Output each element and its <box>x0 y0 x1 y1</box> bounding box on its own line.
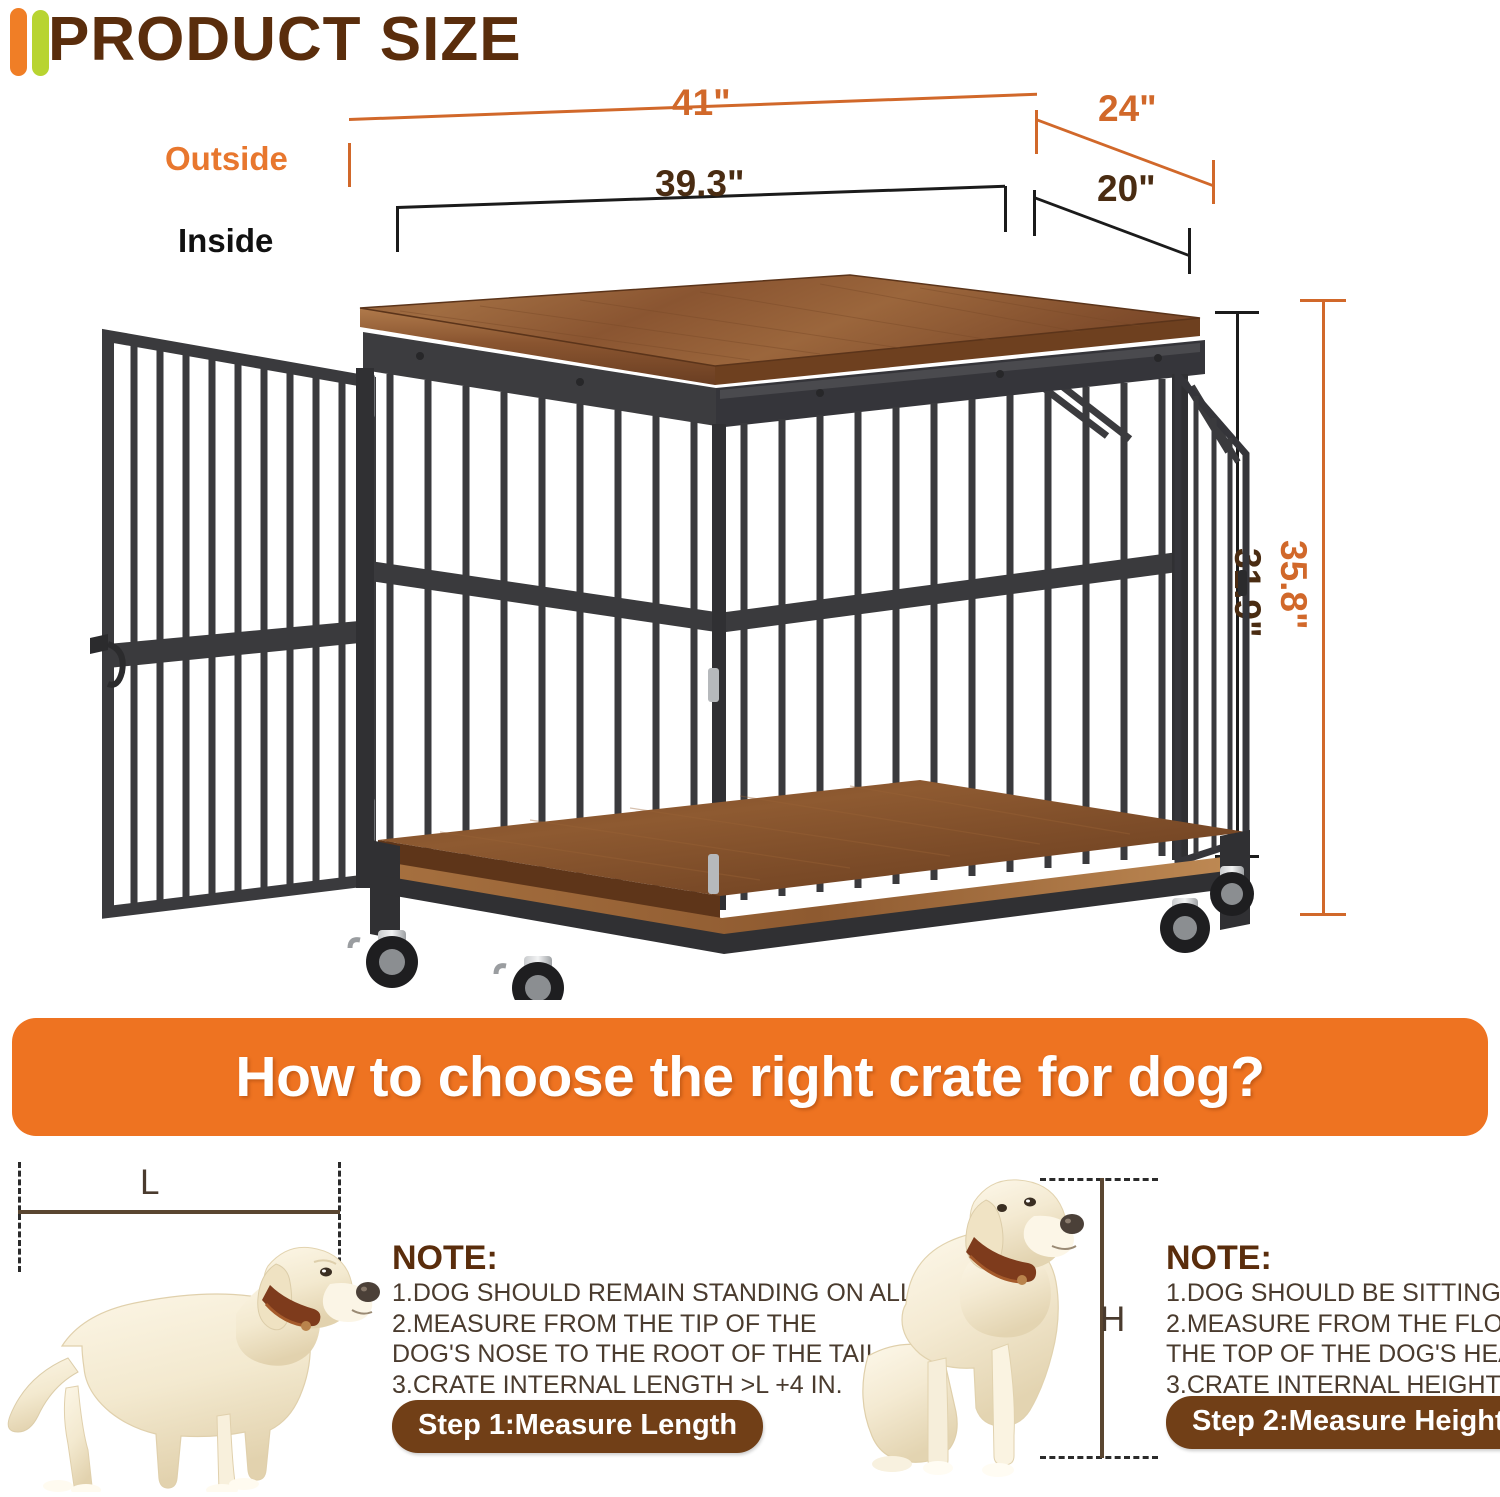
length-bracket-rule <box>18 1210 340 1214</box>
note-title-step1: NOTE: <box>392 1238 912 1278</box>
note-title-step2: NOTE: <box>1166 1238 1500 1278</box>
note-line: 1.DOG SHOULD REMAIN STANDING ON ALL FOUR… <box>392 1278 912 1309</box>
length-letter-label: L <box>140 1163 159 1203</box>
outside-height-tick-bottom <box>1300 913 1346 916</box>
how-to-choose-banner: How to choose the right crate for dog? <box>12 1018 1488 1136</box>
logo-bar-green <box>32 10 49 76</box>
outside-height-tick-top <box>1300 299 1346 302</box>
note-line: 2.MEASURE FROM THE FLOOR TO <box>1166 1309 1500 1340</box>
dim-outside-depth-value: 24" <box>1098 88 1157 130</box>
dog-crate-illustration <box>60 240 1280 1000</box>
outside-depth-tick-right <box>1212 160 1215 204</box>
crate-open-door <box>90 336 375 912</box>
sitting-dog-illustration <box>850 1168 1100 1488</box>
step2-pill-wrap: Step 2:Measure Height <box>1166 1396 1500 1449</box>
dim-outside-width-value: 41" <box>672 82 731 124</box>
crate-hinge-post <box>356 368 374 888</box>
logo-bar-orange <box>10 8 27 76</box>
note-line: 1.DOG SHOULD BE SITTING. <box>1166 1278 1500 1309</box>
note-line: THE TOP OF THE DOG'S HEAD. <box>1166 1339 1500 1370</box>
note-line: 2.MEASURE FROM THE TIP OF THE <box>392 1309 912 1340</box>
page-header: PRODUCT SIZE <box>0 0 1500 90</box>
step1-pill-wrap: Step 1:Measure Length <box>392 1400 763 1453</box>
note-line: 3.CRATE INTERNAL LENGTH >L +4 IN. <box>392 1370 912 1401</box>
dim-inside-depth-value: 20" <box>1097 168 1156 210</box>
note-block-step1: NOTE: 1.DOG SHOULD REMAIN STANDING ON AL… <box>392 1238 912 1400</box>
standing-dog-illustration <box>0 1218 400 1492</box>
legend-outside-label: Outside <box>165 140 288 178</box>
step-2-button[interactable]: Step 2:Measure Height <box>1166 1396 1500 1449</box>
page-title: PRODUCT SIZE <box>48 2 522 78</box>
inside-width-tick-right <box>1004 186 1007 232</box>
banner-title: How to choose the right crate for dog? <box>12 1018 1488 1136</box>
note-block-step2: NOTE: 1.DOG SHOULD BE SITTING. 2.MEASURE… <box>1166 1238 1500 1400</box>
dim-inside-width-value: 39.3" <box>655 163 745 205</box>
crate-side-panel-right <box>1178 376 1247 862</box>
outside-height-line <box>1322 300 1325 915</box>
height-letter-label: H <box>1100 1300 1125 1340</box>
note-line: DOG'S NOSE TO THE ROOT OF THE TAIL. <box>392 1339 912 1370</box>
length-measure-bracket <box>8 1162 348 1222</box>
step-1-button[interactable]: Step 1:Measure Length <box>392 1400 763 1453</box>
product-image <box>60 240 1280 1000</box>
